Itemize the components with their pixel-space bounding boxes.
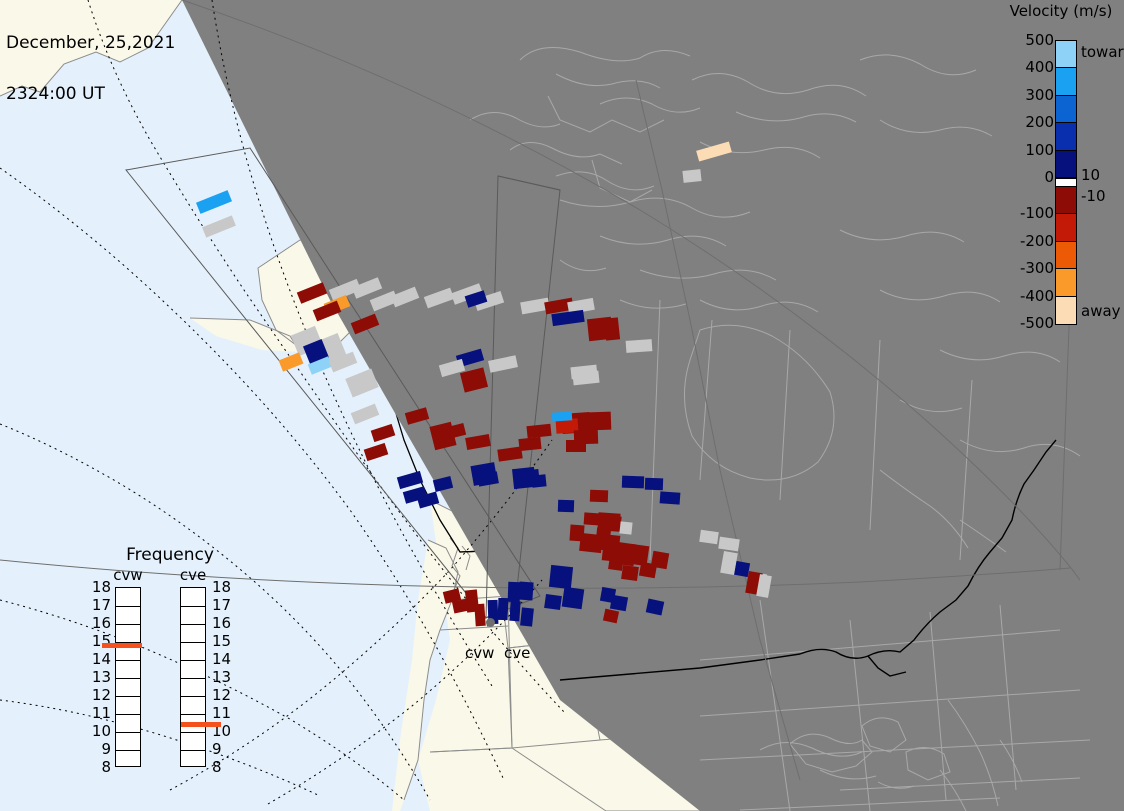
colorbar-tick--200: -200 (1020, 232, 1054, 250)
velocity-cell (526, 424, 551, 438)
velocity-cell (518, 437, 541, 451)
frequency-column-cvw: cvw18171615141312111098 (115, 587, 141, 767)
velocity-cell (660, 491, 681, 504)
frequency-title: Frequency (95, 545, 245, 565)
frequency-tick-cve-13: 13 (212, 668, 231, 686)
date-label: December, 25,2021 (6, 35, 175, 52)
velocity-cell (531, 474, 546, 487)
frequency-gridline (181, 696, 205, 697)
velocity-cell (562, 587, 585, 610)
frequency-column-cve: cve18171615141312111098 (180, 587, 206, 767)
frequency-tick-cvw-10: 10 (87, 722, 111, 740)
velocity-cell (619, 521, 632, 534)
velocity-cell (621, 565, 639, 581)
velocity-cell (558, 500, 574, 513)
site-label-cve: cve (504, 644, 530, 662)
colorbar-band-150 (1056, 123, 1076, 150)
colorbar-zero-gap (1056, 178, 1076, 187)
site-label-cvw: cvw (465, 644, 494, 662)
colorbar-label-bottom: away (1081, 302, 1121, 320)
frequency-legend: Frequency cvw18171615141312111098cve1817… (95, 545, 245, 790)
timestamp-block: December, 25,2021 2324:00 UT (6, 1, 175, 137)
frequency-tick-cvw-17: 17 (87, 596, 111, 614)
velocity-cell (699, 530, 718, 544)
frequency-scale-box-cvw (115, 587, 141, 767)
frequency-gridline (116, 678, 140, 679)
frequency-scale-box-cve (180, 587, 206, 767)
colorbar-band--150 (1056, 214, 1076, 241)
velocity-cell (651, 551, 670, 570)
frequency-gridline (116, 732, 140, 733)
frequency-tick-cve-11: 11 (212, 704, 231, 722)
frequency-tick-cve-18: 18 (212, 578, 231, 596)
frequency-gridline (181, 714, 205, 715)
frequency-tick-cve-17: 17 (212, 596, 231, 614)
velocity-cell (589, 412, 612, 431)
colorbar-band-250 (1056, 96, 1076, 123)
colorbar-tick--500: -500 (1020, 314, 1054, 332)
frequency-gridline (181, 624, 205, 625)
frequency-tick-cvw-11: 11 (87, 704, 111, 722)
velocity-cell (622, 476, 644, 489)
frequency-marker-cve (181, 722, 221, 727)
frequency-tick-cve-16: 16 (212, 614, 231, 632)
frequency-gridline (116, 750, 140, 751)
frequency-tick-cve-8: 8 (212, 758, 222, 776)
frequency-tick-cvw-16: 16 (87, 614, 111, 632)
velocity-cell (606, 515, 621, 530)
colorbar-tick-0: 0 (1044, 168, 1054, 186)
velocity-cell (498, 598, 509, 620)
frequency-gridline (181, 606, 205, 607)
frequency-tick-cvw-12: 12 (87, 686, 111, 704)
frequency-column-label-cve: cve (180, 566, 206, 584)
velocity-cell (474, 604, 486, 627)
frequency-gridline (116, 606, 140, 607)
frequency-tick-cve-14: 14 (212, 650, 231, 668)
colorbar-band--250 (1056, 242, 1076, 269)
colorbar-tick--300: -300 (1020, 259, 1054, 277)
velocity-cell (549, 565, 573, 589)
time-label: 2324:00 UT (6, 86, 175, 103)
frequency-tick-cvw-8: 8 (87, 758, 111, 776)
colorbar-label-pos_thresh: 10 (1081, 166, 1100, 184)
colorbar-tick-200: 200 (1025, 113, 1054, 131)
colorbar-label-top: toward (1081, 43, 1124, 61)
frequency-gridline (116, 660, 140, 661)
frequency-gridline (116, 714, 140, 715)
frequency-column-label-cvw: cvw (113, 566, 142, 584)
colorbar-tick-300: 300 (1025, 86, 1054, 104)
velocity-cell (590, 490, 608, 503)
colorbar-tick--400: -400 (1020, 287, 1054, 305)
frequency-gridline (116, 696, 140, 697)
colorbar-band--450 (1056, 297, 1076, 324)
frequency-tick-cve-9: 9 (212, 740, 222, 758)
frequency-tick-cvw-14: 14 (87, 650, 111, 668)
frequency-marker-cvw (102, 643, 142, 648)
velocity-cell (626, 339, 653, 353)
colorbar-band-350 (1056, 68, 1076, 95)
velocity-cell (520, 607, 534, 626)
colorbar-band--350 (1056, 269, 1076, 296)
colorbar-label-neg_thresh: -10 (1081, 187, 1106, 205)
frequency-gridline (181, 732, 205, 733)
velocity-cell (604, 317, 620, 340)
velocity-cell (566, 440, 586, 452)
colorbar-tick-400: 400 (1025, 58, 1054, 76)
frequency-gridline (181, 750, 205, 751)
velocity-cell (518, 582, 533, 601)
radar-site-marker (486, 618, 495, 627)
frequency-gridline (181, 678, 205, 679)
colorbar-tick-100: 100 (1025, 141, 1054, 159)
velocity-cell (645, 478, 663, 491)
colorbar-band--50 (1056, 187, 1076, 214)
velocity-cell (552, 411, 573, 421)
colorbar-title: Velocity (m/s) (1001, 2, 1121, 20)
frequency-gridline (181, 642, 205, 643)
frequency-gridline (181, 660, 205, 661)
frequency-tick-cve-12: 12 (212, 686, 231, 704)
frequency-gridline (116, 624, 140, 625)
radar-velocity-map: December, 25,2021 2324:00 UT Velocity (m… (0, 0, 1124, 811)
colorbar-tick--100: -100 (1020, 204, 1054, 222)
frequency-tick-cvw-13: 13 (87, 668, 111, 686)
velocity-colorbar: Velocity (m/s) 5004003002001000-100-200-… (995, 0, 1124, 330)
velocity-cell (682, 169, 701, 183)
frequency-tick-cvw-18: 18 (87, 578, 111, 596)
colorbar-band-450 (1056, 41, 1076, 68)
velocity-cell (734, 561, 750, 577)
velocity-cell (544, 594, 562, 610)
velocity-cell (509, 601, 520, 622)
velocity-cell (610, 595, 628, 612)
frequency-tick-cve-15: 15 (212, 632, 231, 650)
frequency-tick-cvw-9: 9 (87, 740, 111, 758)
colorbar-band-50 (1056, 151, 1076, 178)
colorbar-tick-500: 500 (1025, 31, 1054, 49)
colorbar-strip (1055, 40, 1077, 325)
velocity-cell (608, 555, 624, 571)
